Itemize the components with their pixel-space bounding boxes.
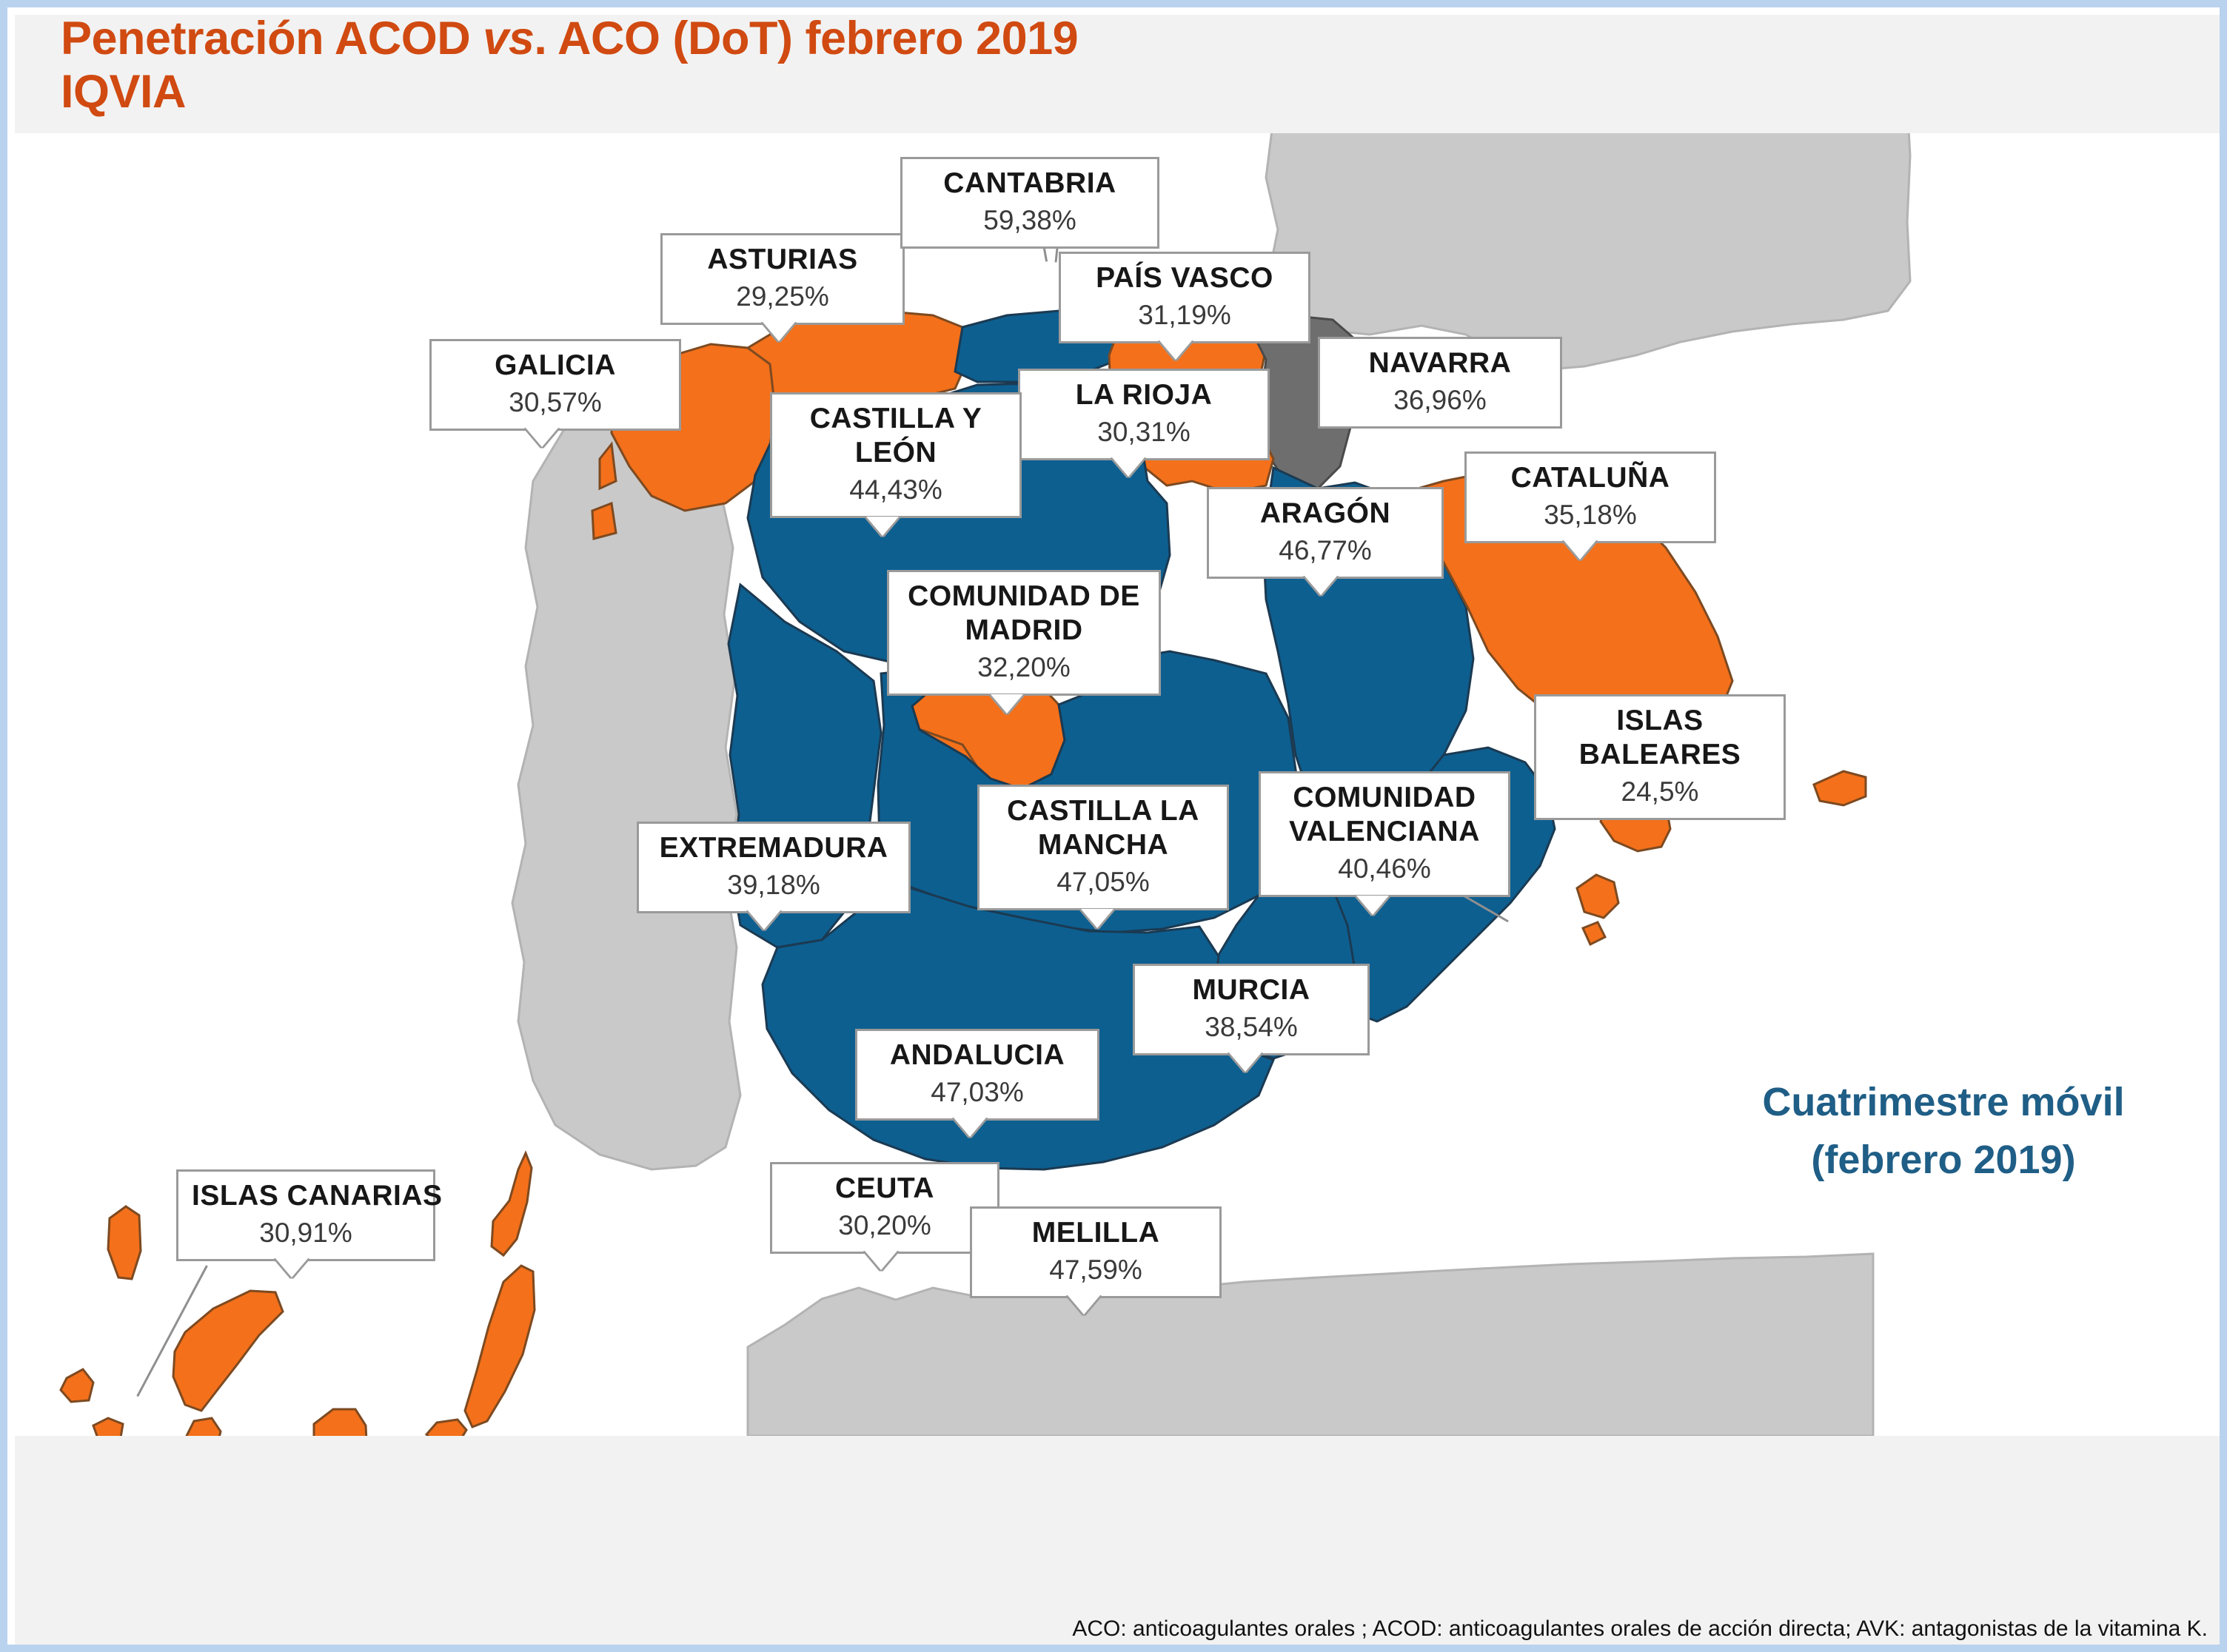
label-pais-vasco-pointer <box>1159 340 1192 360</box>
label-aragon-pointer <box>1305 576 1337 595</box>
label-extremadura-name: EXTREMADURA <box>652 831 895 865</box>
spain-map: Cuatrimestre móvil (febrero 2019) GALICI… <box>15 133 2227 1436</box>
label-navarra-name: NAVARRA <box>1333 346 1547 380</box>
label-ceuta-value: 30,20% <box>786 1209 984 1243</box>
label-melilla-pointer <box>1068 1295 1100 1314</box>
label-islas-canarias-name: ISLAS CANARIAS <box>192 1179 420 1213</box>
label-andalucia-value: 47,03% <box>871 1075 1084 1109</box>
label-islas-baleares-value: 24,5% <box>1550 775 1770 809</box>
sidenote-line-2: (febrero 2019) <box>1707 1131 2180 1189</box>
label-islas-baleares[interactable]: ISLAS BALEARES 24,5% <box>1534 694 1786 820</box>
label-pais-vasco-name: PAÍS VASCO <box>1074 261 1295 295</box>
region-morocco <box>748 1254 1873 1436</box>
title-line-1: Penetración ACOD vs. ACO (DoT) febrero 2… <box>61 12 1078 65</box>
label-ceuta-name: CEUTA <box>786 1172 984 1206</box>
label-castilla-la-mancha-name: CASTILLA LA MANCHA <box>993 794 1213 862</box>
label-melilla-name: MELILLA <box>985 1216 1206 1250</box>
label-ceuta-pointer <box>865 1251 897 1270</box>
label-la-rioja[interactable]: LA RIOJA 30,31% <box>1018 369 1270 460</box>
label-madrid[interactable]: COMUNIDAD DE MADRID 32,20% <box>887 570 1161 696</box>
label-galicia-value: 30,57% <box>445 386 666 420</box>
label-aragon[interactable]: ARAGÓN 46,77% <box>1207 487 1444 579</box>
label-islas-baleares-name: ISLAS BALEARES <box>1550 704 1770 772</box>
label-comunidad-valenciana-name: COMUNIDAD VALENCIANA <box>1274 781 1495 849</box>
label-extremadura-value: 39,18% <box>652 868 895 902</box>
title-part-b: . ACO (DoT) febrero 2019 <box>534 13 1078 64</box>
label-la-rioja-pointer <box>1112 457 1145 477</box>
label-cataluna-name: CATALUÑA <box>1480 461 1701 495</box>
label-la-rioja-value: 30,31% <box>1034 415 1254 449</box>
label-castilla-y-leon-name: CASTILLA Y LEÓN <box>786 402 1006 470</box>
label-galicia-name: GALICIA <box>445 349 666 383</box>
label-navarra-value: 36,96% <box>1333 383 1547 417</box>
label-castilla-y-leon-pointer <box>866 517 899 536</box>
label-madrid-name: COMUNIDAD DE MADRID <box>902 580 1145 648</box>
title-part-italic: vs <box>483 13 534 64</box>
label-murcia-pointer <box>1229 1052 1262 1072</box>
sidenote-cuatrimestre: Cuatrimestre móvil (febrero 2019) <box>1707 1073 2180 1189</box>
label-asturias-value: 29,25% <box>676 280 889 314</box>
label-islas-canarias[interactable]: ISLAS CANARIAS 30,91% <box>176 1169 435 1261</box>
label-andalucia-pointer <box>954 1118 986 1137</box>
footer-band: ACO: anticoagulantes orales ; ACOD: anti… <box>15 1436 2227 1652</box>
label-castilla-y-leon[interactable]: CASTILLA Y LEÓN 44,43% <box>770 392 1022 518</box>
label-galicia[interactable]: GALICIA 30,57% <box>429 339 681 431</box>
title-part-a: Penetración ACOD <box>61 13 483 64</box>
slide-root: Penetración ACOD vs. ACO (DoT) febrero 2… <box>0 0 2227 1652</box>
label-islas-canarias-value: 30,91% <box>192 1216 420 1250</box>
label-aragon-name: ARAGÓN <box>1222 497 1428 531</box>
label-extremadura[interactable]: EXTREMADURA 39,18% <box>637 822 911 913</box>
label-cataluna-value: 35,18% <box>1480 498 1701 532</box>
label-murcia[interactable]: MURCIA 38,54% <box>1133 964 1370 1055</box>
label-cataluna[interactable]: CATALUÑA 35,18% <box>1464 451 1716 543</box>
label-cantabria[interactable]: CANTABRIA 59,38% <box>900 157 1159 249</box>
label-navarra[interactable]: NAVARRA 36,96% <box>1318 337 1562 429</box>
label-galicia-pointer <box>526 428 558 447</box>
label-castilla-la-mancha-value: 47,05% <box>993 865 1213 899</box>
label-madrid-value: 32,20% <box>902 651 1145 685</box>
label-madrid-pointer <box>991 694 1023 713</box>
label-cataluna-pointer <box>1564 540 1596 560</box>
label-islas-canarias-pointer <box>275 1258 308 1277</box>
label-andalucia-name: ANDALUCIA <box>871 1038 1084 1072</box>
label-pais-vasco[interactable]: PAÍS VASCO 31,19% <box>1059 252 1310 343</box>
label-andalucia[interactable]: ANDALUCIA 47,03% <box>855 1029 1099 1121</box>
label-asturias-pointer <box>763 322 795 341</box>
label-melilla[interactable]: MELILLA 47,59% <box>970 1206 1222 1298</box>
label-aragon-value: 46,77% <box>1222 534 1428 568</box>
label-comunidad-valenciana[interactable]: COMUNIDAD VALENCIANA 40,46% <box>1259 771 1510 897</box>
label-extremadura-pointer <box>748 910 780 930</box>
page-title: Penetración ACOD vs. ACO (DoT) febrero 2… <box>61 12 1078 118</box>
region-portugal <box>512 403 740 1169</box>
label-asturias[interactable]: ASTURIAS 29,25% <box>660 233 905 325</box>
region-france <box>1266 133 1910 370</box>
label-castilla-y-leon-value: 44,43% <box>786 473 1006 507</box>
label-ceuta[interactable]: CEUTA 30,20% <box>770 1162 999 1254</box>
sidenote-line-1: Cuatrimestre móvil <box>1707 1073 2180 1131</box>
label-murcia-name: MURCIA <box>1148 973 1354 1007</box>
title-line-2: IQVIA <box>61 65 1078 118</box>
footnote-abbreviations: ACO: anticoagulantes orales ; ACOD: anti… <box>1072 1616 2208 1642</box>
label-castilla-la-mancha-pointer <box>1081 909 1113 928</box>
label-castilla-la-mancha[interactable]: CASTILLA LA MANCHA 47,05% <box>977 785 1229 910</box>
header-band: Penetración ACOD vs. ACO (DoT) febrero 2… <box>15 15 2227 133</box>
label-cantabria-value: 59,38% <box>916 204 1144 238</box>
label-melilla-value: 47,59% <box>985 1253 1206 1287</box>
label-comunidad-valenciana-pointer <box>1356 896 1389 915</box>
label-asturias-name: ASTURIAS <box>676 243 889 277</box>
label-cantabria-name: CANTABRIA <box>916 167 1144 201</box>
label-comunidad-valenciana-value: 40,46% <box>1274 852 1495 886</box>
label-la-rioja-name: LA RIOJA <box>1034 378 1254 412</box>
label-murcia-value: 38,54% <box>1148 1010 1354 1044</box>
label-pais-vasco-value: 31,19% <box>1074 298 1295 332</box>
